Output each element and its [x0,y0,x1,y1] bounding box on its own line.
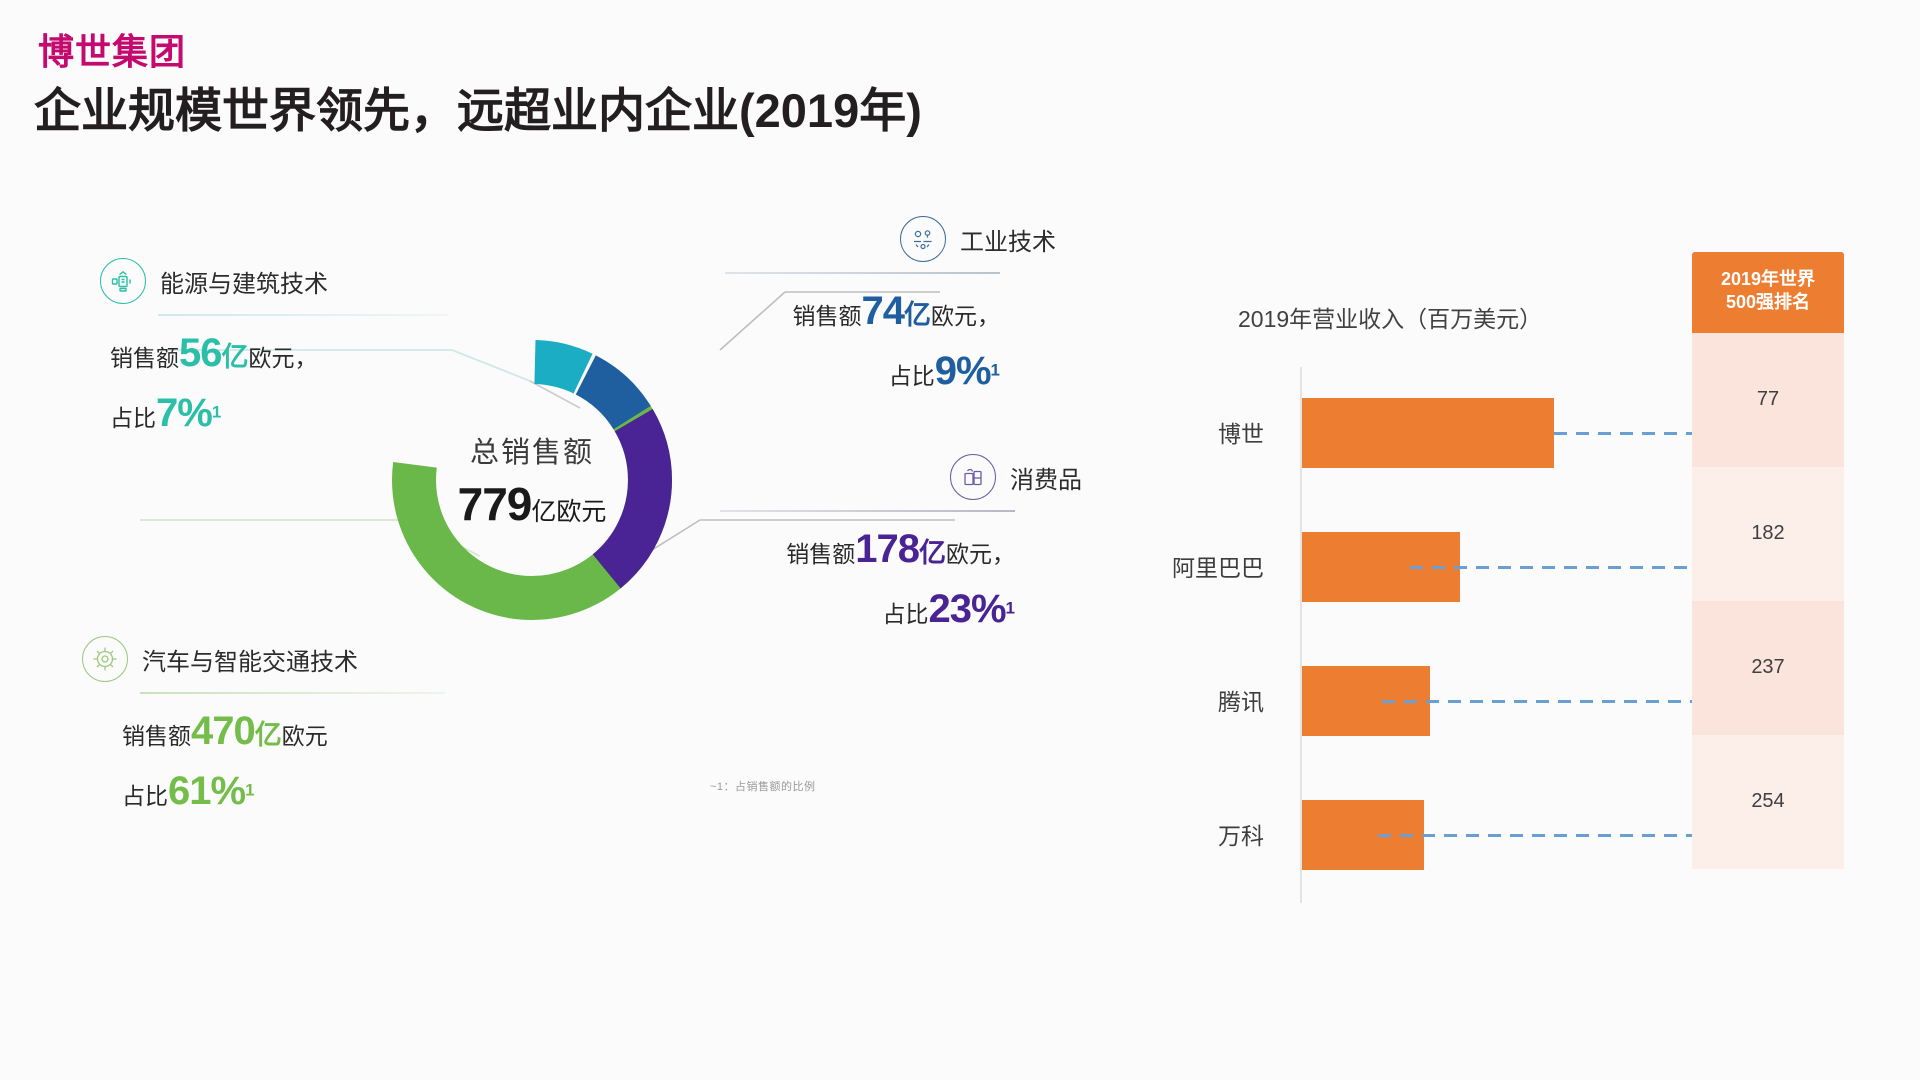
callout-divider [140,692,445,694]
sales-prefix: 销售额 [786,541,855,567]
share-footnote-marker: 1 [245,780,254,799]
bar-category-label: 博世 [1218,415,1264,449]
callout-industrial-technology: 工业技术 销售额74亿欧元， 占比9%1 [900,216,1056,394]
callout-sales-line: 销售额74亿欧元， [725,289,1000,334]
brand-kicker: 博世集团 [38,32,186,72]
share-footnote-marker: 1 [212,402,221,421]
energy-building-icon [100,258,146,304]
callout-sales-line: 销售额56亿欧元， [110,331,448,376]
revenue-bar-chart: 博世 阿里巴巴 腾讯 万科 [1300,367,1700,903]
sales-prefix: 销售额 [122,723,191,749]
callout-sales-line: 销售额178亿欧元， [720,527,1015,572]
rank-cell: 237 [1692,601,1844,735]
share-footnote-marker: 1 [1006,598,1015,617]
callout-consumer-goods: 消费品 销售额178亿欧元， 占比23%1 [950,454,1082,632]
table-row: 阿里巴巴 [1300,501,1700,635]
table-row: 万科 [1300,769,1700,903]
revenue-chart-title: 2019年营业收入（百万美元） [1238,300,1542,334]
fortune500-rank-column: 2019年世界 500强排名 77 182 237 254 [1692,252,1844,869]
rank-header-line-1: 2019年世界 [1698,268,1838,291]
sales-prefix: 销售额 [793,303,862,329]
sales-number: 470 [191,709,255,753]
connector-line [1410,566,1692,569]
table-row: 腾讯 [1300,635,1700,769]
callout-energy-building: 能源与建筑技术 销售额56亿欧元， 占比7%1 [100,258,448,436]
share-number: 61% [168,769,245,813]
share-number: 7% [156,391,212,435]
rank-cell: 182 [1692,467,1844,601]
industrial-technology-icon [900,216,946,262]
share-prefix: 占比 [889,363,935,389]
callout-title: 消费品 [1010,460,1082,495]
callout-header: 汽车与智能交通技术 [82,636,445,682]
bar-category-label: 阿里巴巴 [1172,549,1264,583]
callout-header: 消费品 [950,454,1082,500]
bar-category-label: 万科 [1218,817,1264,851]
callout-divider [158,314,448,316]
share-number: 9% [935,349,991,393]
bar-bosch [1302,398,1554,468]
sales-number: 178 [855,527,919,571]
rank-column-header: 2019年世界 500强排名 [1692,252,1844,333]
sales-unit: 亿 [919,538,946,568]
sales-number: 74 [862,289,905,333]
page-title: 企业规模世界领先，远超业内企业(2019年) [34,84,922,138]
sales-number: 56 [179,331,222,375]
callout-sales-line: 销售额470亿欧元 [122,709,445,754]
sales-unit: 亿 [904,300,931,330]
callout-share-line: 占比7%1 [110,391,448,436]
sales-unit: 亿 [222,342,249,372]
callout-header: 工业技术 [900,216,1056,262]
callout-title: 工业技术 [960,222,1056,257]
connector-line [1382,700,1692,703]
sales-unit: 亿 [255,720,282,750]
callout-share-line: 占比61%1 [122,769,445,814]
rank-cells: 77 182 237 254 [1692,333,1844,869]
rank-cell: 254 [1692,735,1844,869]
callout-header: 能源与建筑技术 [100,258,448,304]
sales-suffix: 欧元， [249,345,318,371]
callout-mobility-solutions: 汽车与智能交通技术 销售额470亿欧元 占比61%1 [82,636,445,814]
callout-divider [720,510,1015,512]
share-prefix: 占比 [122,783,168,809]
connector-line [1554,432,1692,435]
callout-title: 能源与建筑技术 [160,264,328,299]
bar-category-label: 腾讯 [1218,683,1264,717]
mobility-solutions-icon [82,636,128,682]
table-row: 博世 [1300,367,1700,501]
sales-suffix: 欧元， [931,303,1000,329]
connector-line [1378,834,1692,837]
callout-title: 汽车与智能交通技术 [142,642,358,677]
sales-prefix: 销售额 [110,345,179,371]
callout-share-line: 占比9%1 [725,349,1000,394]
chart-footnote: ~1：占销售额的比例 [710,778,816,794]
share-prefix: 占比 [110,405,156,431]
share-number: 23% [928,587,1005,631]
sales-suffix: 欧元， [946,541,1015,567]
callout-divider [725,272,1000,274]
consumer-goods-icon [950,454,996,500]
share-footnote-marker: 1 [991,360,1000,379]
rank-header-line-2: 500强排名 [1698,291,1838,314]
slide-canvas: 博世集团 企业规模世界领先，远超业内企业(2019年) [0,0,1920,1080]
sales-suffix: 欧元 [282,723,328,749]
rank-cell: 77 [1692,333,1844,467]
share-prefix: 占比 [882,601,928,627]
callout-share-line: 占比23%1 [720,587,1015,632]
